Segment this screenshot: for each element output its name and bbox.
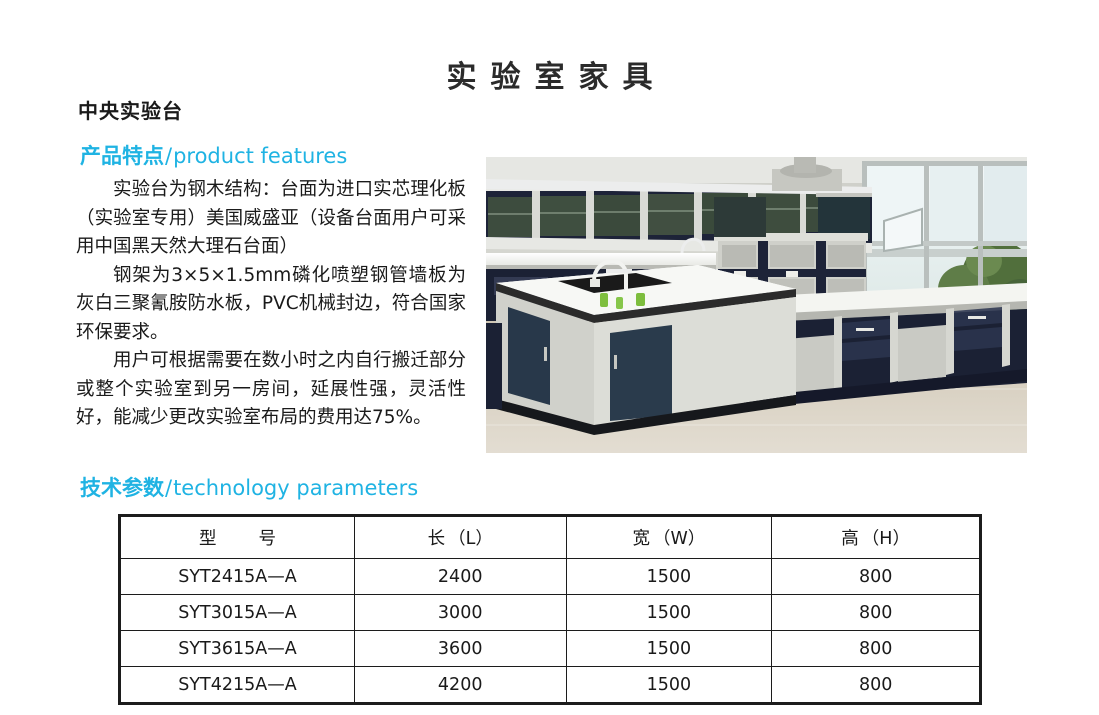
cell-model: SYT3015A—A: [120, 595, 355, 631]
cell-height: 800: [772, 631, 981, 667]
table-row: SYT3615A—A 3600 1500 800: [120, 631, 981, 667]
cell-width: 1500: [566, 559, 772, 595]
column-header-width-cn: 宽: [632, 529, 650, 549]
technology-parameters-heading-en: technology parameters: [173, 476, 418, 500]
technology-parameters-heading-cn: 技术参数: [80, 476, 164, 500]
cell-width: 1500: [566, 631, 772, 667]
product-features-heading: 产品特点/product features: [80, 140, 347, 170]
cell-model: SYT2415A—A: [120, 559, 355, 595]
column-header-model-char1: 型: [199, 529, 217, 549]
feature-paragraph: 用户可根据需要在数小时之内自行搬迁部分或整个实验室到另一房间，延展性强，灵活性好…: [76, 347, 466, 433]
column-header-model-char2: 号: [258, 529, 276, 549]
product-features-heading-cn: 产品特点: [80, 144, 164, 168]
column-header-width: 宽（W）: [566, 516, 772, 559]
table-row: SYT3015A—A 3000 1500 800: [120, 595, 981, 631]
cell-length: 2400: [354, 559, 566, 595]
cell-width: 1500: [566, 667, 772, 704]
product-features-heading-en: product features: [173, 144, 347, 168]
cell-model: SYT4215A—A: [120, 667, 355, 704]
technology-parameters-heading-separator: /: [164, 476, 173, 500]
column-header-length: 长（L）: [354, 516, 566, 559]
cell-height: 800: [772, 667, 981, 704]
cell-length: 3600: [354, 631, 566, 667]
table-header-row: 型号 长（L） 宽（W） 高（H）: [120, 516, 981, 559]
column-header-width-unit: （W）: [653, 529, 705, 549]
cell-width: 1500: [566, 595, 772, 631]
page-title: 实验室家具: [0, 52, 1099, 96]
product-features-body: 实验台为钢木结构：台面为进口实芯理化板（实验室专用）美国威盛亚（设备台面用户可采…: [76, 176, 466, 433]
section-subtitle: 中央实验台: [78, 95, 183, 124]
laboratory-bench-photo: [486, 157, 1027, 453]
cell-length: 3000: [354, 595, 566, 631]
column-header-height-unit: （H）: [862, 529, 910, 549]
table-row: SYT4215A—A 4200 1500 800: [120, 667, 981, 704]
feature-paragraph: 钢架为3×5×1.5mm磷化喷塑钢管墙板为灰白三聚氰胺防水板，PVC机械封边，符…: [76, 262, 466, 348]
cell-model: SYT3615A—A: [120, 631, 355, 667]
cell-length: 4200: [354, 667, 566, 704]
column-header-height-cn: 高: [841, 529, 859, 549]
column-header-length-unit: （L）: [448, 529, 493, 549]
cell-height: 800: [772, 559, 981, 595]
column-header-model: 型号: [120, 516, 355, 559]
specification-table: 型号 长（L） 宽（W） 高（H） SYT2415A—A 2400 1500 8…: [118, 514, 982, 705]
cell-height: 800: [772, 595, 981, 631]
feature-paragraph: 实验台为钢木结构：台面为进口实芯理化板（实验室专用）美国威盛亚（设备台面用户可采…: [76, 176, 466, 262]
technology-parameters-heading: 技术参数/technology parameters: [80, 472, 418, 502]
table-row: SYT2415A—A 2400 1500 800: [120, 559, 981, 595]
column-header-length-cn: 长: [428, 529, 446, 549]
product-features-heading-separator: /: [164, 144, 173, 168]
column-header-height: 高（H）: [772, 516, 981, 559]
